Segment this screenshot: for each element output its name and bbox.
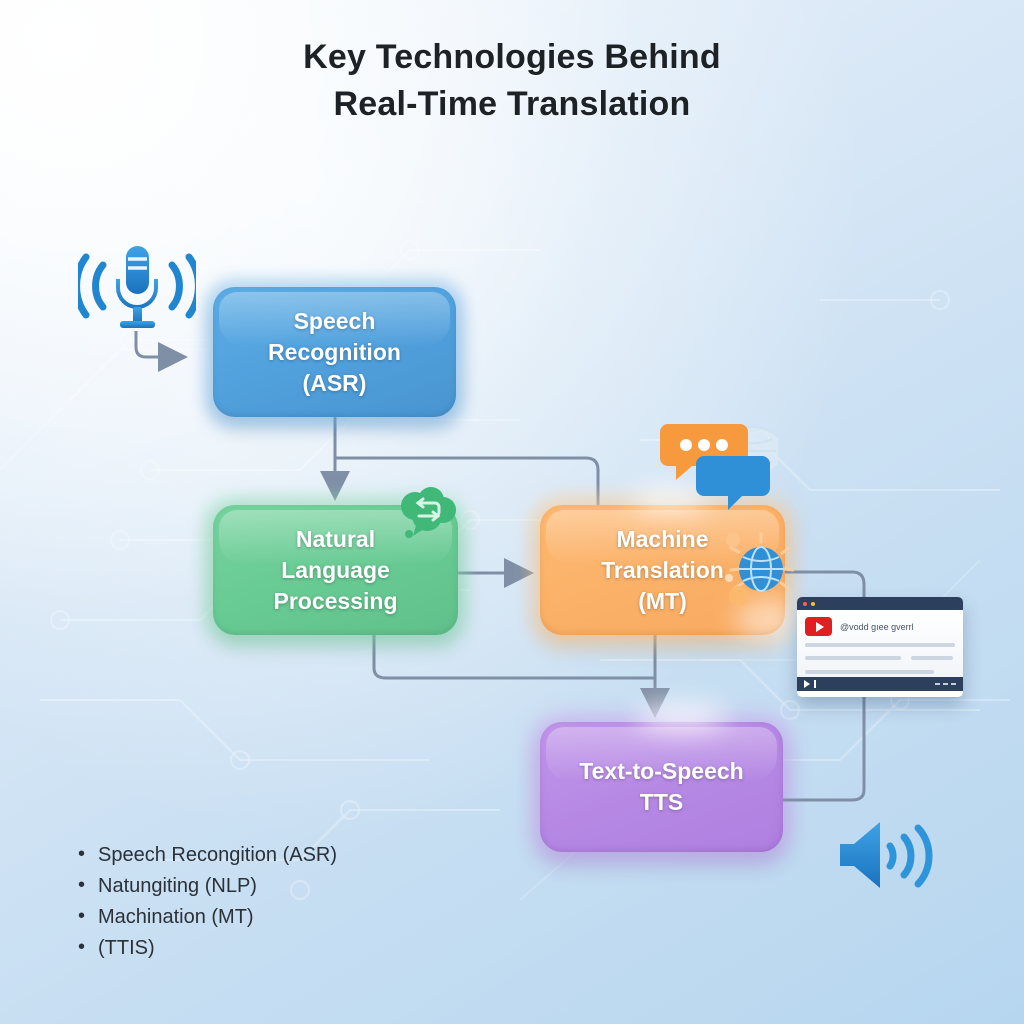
node-label: Speech Recognition (ASR) xyxy=(268,306,401,399)
node-asr-line-2: Recognition xyxy=(268,337,401,368)
globe-icon xyxy=(725,530,797,608)
close-icon[interactable] xyxy=(803,602,807,606)
placeholder-line xyxy=(805,656,901,660)
node-speech-recognition[interactable]: Speech Recognition (ASR) xyxy=(213,287,456,417)
video-player-window[interactable]: @vodd gıee gverrl xyxy=(797,597,963,697)
node-nlp-line-1: Natural xyxy=(274,524,398,555)
node-label: Text-to-Speech TTS xyxy=(579,756,743,818)
node-text-to-speech[interactable]: Text-to-Speech TTS xyxy=(540,722,783,852)
window-title-bar xyxy=(797,597,963,610)
infographic-canvas: Key Technologies Behind Real-Time Transl… xyxy=(0,0,1024,1024)
title-line-2: Real-Time Translation xyxy=(0,81,1024,128)
node-tts-line-2: TTS xyxy=(579,787,743,818)
player-controls[interactable] xyxy=(797,677,963,691)
list-item: Speech Recongition (ASR) xyxy=(98,840,337,871)
bullet-items: Speech Recongition (ASR) Natungiting (NL… xyxy=(72,840,337,964)
node-mt-line-3: (MT) xyxy=(601,586,724,617)
play-icon[interactable] xyxy=(805,617,832,636)
minimize-icon[interactable] xyxy=(811,602,815,606)
list-item: (TTIS) xyxy=(98,933,337,964)
progress-dots xyxy=(935,683,956,685)
node-nlp-line-3: Processing xyxy=(274,586,398,617)
placeholder-line xyxy=(805,643,955,647)
placeholder-line xyxy=(805,670,934,674)
node-mt-line-1: Machine xyxy=(601,524,724,555)
playback-controls[interactable] xyxy=(804,680,816,688)
title-line-1: Key Technologies Behind xyxy=(0,34,1024,81)
summary-bullet-list: Speech Recongition (ASR) Natungiting (NL… xyxy=(72,840,337,964)
translate-bubble-icon xyxy=(397,486,459,542)
speaker-icon xyxy=(838,818,934,892)
node-asr-line-3: (ASR) xyxy=(268,368,401,399)
microphone-icon xyxy=(78,243,196,339)
node-label: Natural Language Processing xyxy=(274,524,398,617)
play-small-icon[interactable] xyxy=(804,680,810,688)
video-header: @vodd gıee gverrl xyxy=(805,617,955,636)
node-asr-line-1: Speech xyxy=(268,306,401,337)
node-mt-line-2: Translation xyxy=(601,555,724,586)
pause-icon[interactable] xyxy=(814,680,816,688)
node-nlp-line-2: Language xyxy=(274,555,398,586)
video-title: @vodd gıee gverrl xyxy=(840,622,914,632)
window-body: @vodd gıee gverrl xyxy=(797,610,963,677)
list-item: Machination (MT) xyxy=(98,902,337,933)
list-item: Natungiting (NLP) xyxy=(98,871,337,902)
node-label: Machine Translation (MT) xyxy=(601,524,724,617)
node-tts-line-1: Text-to-Speech xyxy=(579,756,743,787)
chat-bubbles-icon xyxy=(660,415,778,513)
placeholder-line xyxy=(911,656,953,660)
page-title: Key Technologies Behind Real-Time Transl… xyxy=(0,34,1024,128)
